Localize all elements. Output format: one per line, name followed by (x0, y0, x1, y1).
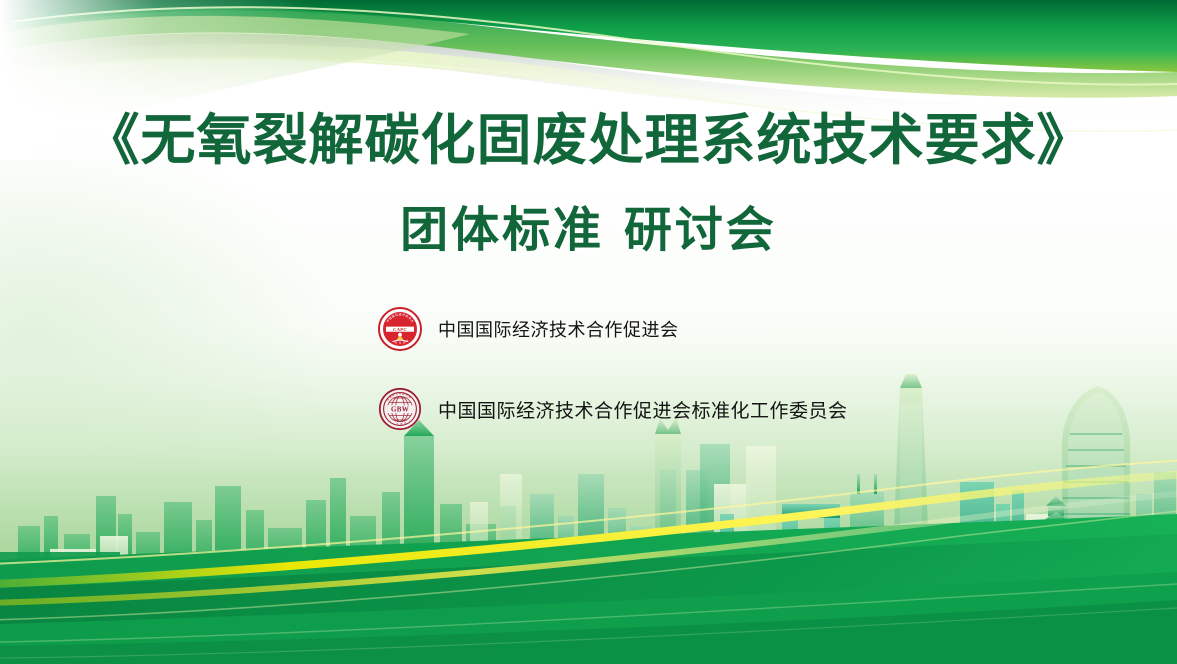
svg-text:国: 国 (400, 422, 403, 426)
page-subtitle: 团体标准 研讨会 (0, 202, 1177, 260)
list-item-label: 中国国际经济技术合作促进会 (438, 316, 679, 342)
capc-seal-icon: 中 国 国 际 经 济 技 术 合 CAPC (378, 307, 422, 351)
list-item-label: 中国国际经济技术合作促进会标准化工作委员会 (438, 396, 848, 423)
svg-text:GBW: GBW (391, 406, 409, 414)
svg-text:CAPC: CAPC (393, 327, 407, 332)
list-item: 中 国 国 际 经 济 技 术 合 CAPC (378, 305, 848, 353)
organization-list: 中 国 国 际 经 济 技 术 合 CAPC (378, 305, 848, 465)
gbw-seal-icon: GBW 标 准 化 工 作 委 员 会 际 国 中 (378, 387, 422, 431)
page-title: 《无氧裂解碳化固废处理系统技术要求》 (0, 108, 1177, 173)
list-item: GBW 标 准 化 工 作 委 员 会 际 国 中 (378, 385, 848, 433)
presentation-slide: 《无氧裂解碳化固废处理系统技术要求》 团体标准 研讨会 中 国 国 际 经 (0, 0, 1177, 664)
